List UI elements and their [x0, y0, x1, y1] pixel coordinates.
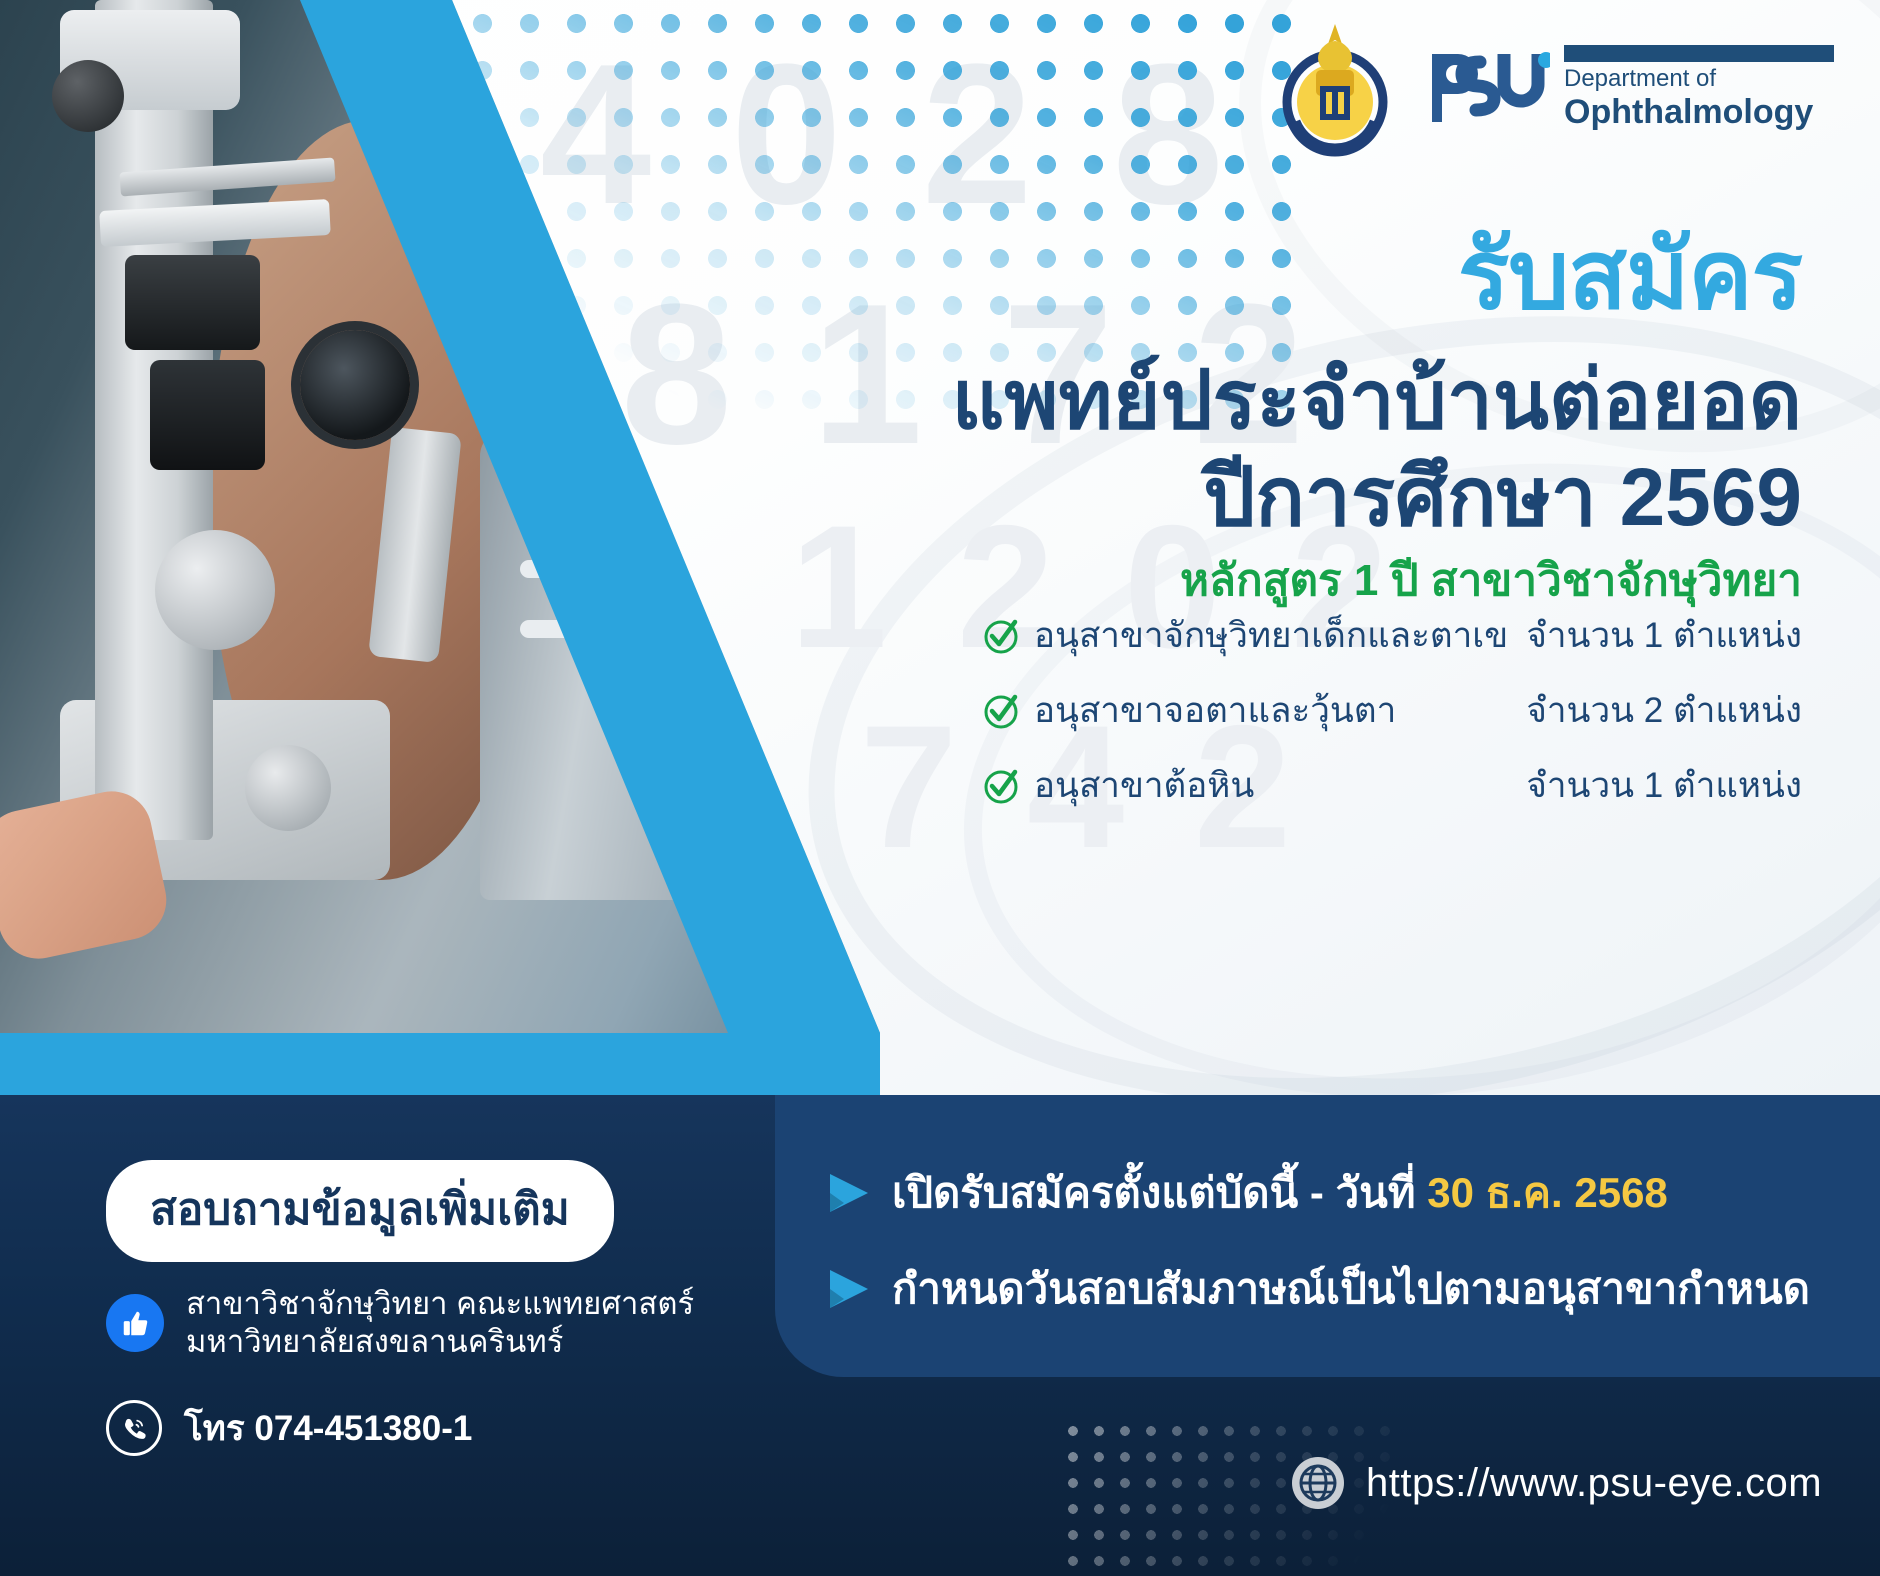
- play-triangle-icon: [826, 1170, 870, 1216]
- footer-notes: เปิดรับสมัครตั้งแต่บัดนี้ - วันที่ 30 ธ.…: [826, 1160, 1810, 1322]
- contact-heading-pill: สอบถามข้อมูลเพิ่มเติม: [106, 1160, 614, 1262]
- list-item: อนุสาขาต้อหิน จำนวน 1 ตำแหน่ง: [982, 758, 1802, 813]
- headline-recruit: รับสมัคร: [1458, 228, 1802, 324]
- position-name: อนุสาขาจักษุวิทยาเด็กและตาเข: [1034, 608, 1512, 663]
- green-check-circle-icon: [982, 692, 1020, 730]
- poster-root: 4 0 2 8 4 8 1 7 2 1 2 0 2 7 4 2: [0, 0, 1880, 1576]
- hero-section: 4 0 2 8 4 8 1 7 2 1 2 0 2 7 4 2: [0, 0, 1880, 1095]
- photo-vent-2: [520, 560, 680, 578]
- position-count: จำนวน 1 ตำแหน่ง: [1526, 608, 1802, 663]
- photo-objective-lens: [300, 330, 410, 440]
- department-block: Department of Ophthalmology: [1564, 45, 1834, 131]
- website-url: https://www.psu-eye.com: [1366, 1461, 1822, 1506]
- bottom-blue-bar: [0, 1033, 880, 1095]
- note-text: กำหนดวันสอบสัมภาษณ์เป็นไปตามอนุสาขากำหนด: [892, 1256, 1810, 1322]
- photo-status-led: [660, 760, 676, 776]
- photo-vent-1: [520, 500, 680, 518]
- headline-fellowship: แพทย์ประจำบ้านต่อยอด: [952, 355, 1802, 447]
- phone-icon: [106, 1400, 162, 1456]
- position-count: จำนวน 1 ตำแหน่ง: [1526, 758, 1802, 813]
- deadline-date: 30 ธ.ค. 2568: [1427, 1169, 1668, 1216]
- position-name: อนุสาขาต้อหิน: [1034, 758, 1512, 813]
- photo-vent-3: [520, 620, 680, 638]
- list-item: อนุสาขาจอตาและวุ้นตา จำนวน 2 ตำแหน่ง: [982, 683, 1802, 738]
- facebook-thumbs-up-icon[interactable]: [106, 1294, 164, 1352]
- psu-logo-icon: [1422, 46, 1550, 130]
- contact-line-1: สาขาวิชาจักษุวิทยา คณะแพทยศาสตร์: [186, 1285, 694, 1323]
- list-item: กำหนดวันสอบสัมภาษณ์เป็นไปตามอนุสาขากำหนด: [826, 1256, 1810, 1322]
- header-logos: Department of Ophthalmology: [1276, 18, 1834, 158]
- subheadline-program: หลักสูตร 1 ปี สาขาวิชาจักษุวิทยา: [1180, 545, 1802, 615]
- play-triangle-icon: [826, 1266, 870, 1312]
- phone-number: โทร 074-451380-1: [184, 1401, 472, 1456]
- psu-brand-lockup: Department of Ophthalmology: [1422, 45, 1834, 131]
- note-text: เปิดรับสมัครตั้งแต่บัดนี้ - วันที่ 30 ธ.…: [892, 1160, 1668, 1226]
- green-check-circle-icon: [982, 767, 1020, 805]
- department-line-2: Ophthalmology: [1564, 95, 1834, 131]
- position-count: จำนวน 2 ตำแหน่ง: [1526, 683, 1802, 738]
- photo-device-block-1: [125, 255, 260, 350]
- photo-knob-2: [155, 530, 275, 650]
- website-link[interactable]: https://www.psu-eye.com: [1290, 1455, 1822, 1511]
- department-rule: [1564, 45, 1834, 62]
- contact-department: สาขาวิชาจักษุวิทยา คณะแพทยศาสตร์ มหาวิทย…: [106, 1285, 694, 1362]
- photo-device-block-2: [150, 360, 265, 470]
- position-list: อนุสาขาจักษุวิทยาเด็กและตาเข จำนวน 1 ตำแ…: [982, 608, 1802, 813]
- list-item: เปิดรับสมัครตั้งแต่บัดนี้ - วันที่ 30 ธ.…: [826, 1160, 1810, 1226]
- psu-university-seal-icon: [1276, 18, 1394, 158]
- green-check-circle-icon: [982, 617, 1020, 655]
- photo-knob-3: [245, 745, 331, 831]
- globe-icon: [1290, 1455, 1346, 1511]
- note-text-before: เปิดรับสมัครตั้งแต่บัดนี้ - วันที่: [892, 1169, 1427, 1216]
- contact-phone[interactable]: โทร 074-451380-1: [106, 1400, 472, 1456]
- contact-address: สาขาวิชาจักษุวิทยา คณะแพทยศาสตร์ มหาวิทย…: [186, 1285, 694, 1362]
- department-line-1: Department of: [1564, 66, 1834, 91]
- position-name: อนุสาขาจอตาและวุ้นตา: [1034, 683, 1512, 738]
- headline-academic-year: ปีการศึกษา 2569: [1203, 452, 1802, 544]
- list-item: อนุสาขาจักษุวิทยาเด็กและตาเข จำนวน 1 ตำแ…: [982, 608, 1802, 663]
- contact-line-2: มหาวิทยาลัยสงขลานครินทร์: [186, 1323, 694, 1361]
- photo-knob-1: [52, 60, 124, 132]
